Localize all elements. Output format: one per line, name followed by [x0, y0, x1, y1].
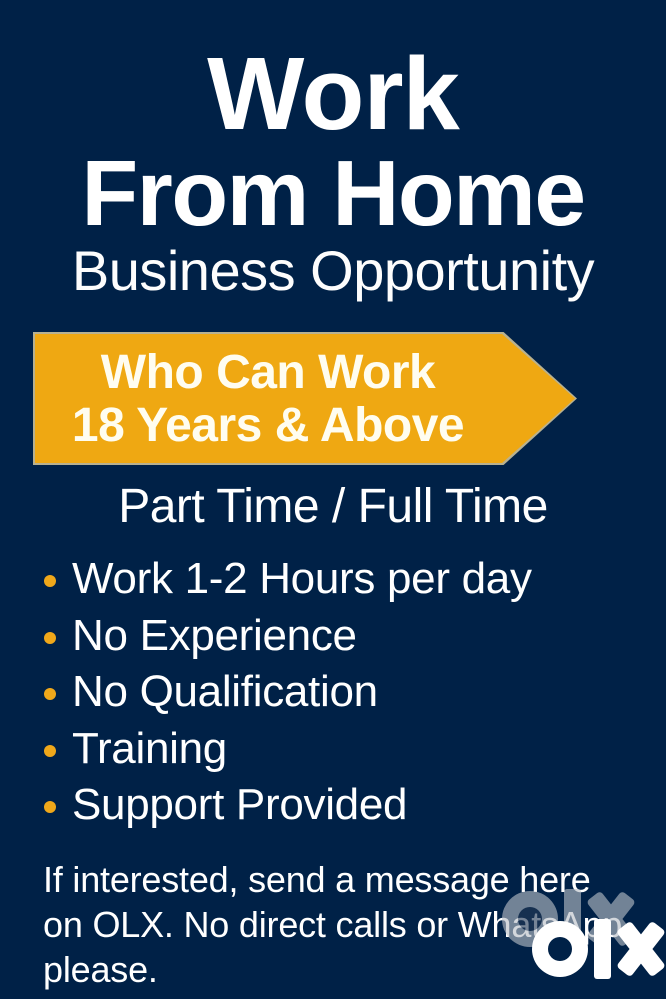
- bullet-dot-icon: [44, 801, 56, 813]
- list-item: No Experience: [44, 608, 644, 664]
- list-item: Training: [44, 721, 644, 777]
- poster-canvas: Work From Home Business Opportunity Who …: [0, 0, 666, 999]
- availability-label: Part Time / Full Time: [0, 483, 666, 531]
- banner-text-block: Who Can Work 18 Years & Above: [35, 346, 501, 452]
- olx-letter-x-icon: [616, 923, 666, 975]
- olx-watermark-front-icon: [532, 921, 665, 981]
- bullet-dot-icon: [44, 745, 56, 757]
- page-subtitle: Business Opportunity: [0, 243, 666, 299]
- list-item: No Qualification: [44, 664, 644, 720]
- banner-line-2: 18 Years & Above: [35, 399, 501, 452]
- list-item-label: Training: [72, 725, 227, 773]
- olx-letter-o-icon: [532, 921, 588, 977]
- bullet-dot-icon: [44, 688, 56, 700]
- list-item-label: No Experience: [72, 612, 357, 660]
- olx-letter-o-hole: [548, 937, 572, 961]
- eligibility-banner: Who Can Work 18 Years & Above: [35, 334, 575, 463]
- olx-letter-l-icon: [594, 919, 611, 979]
- list-item: Work 1-2 Hours per day: [44, 551, 644, 607]
- list-item-label: No Qualification: [72, 668, 378, 716]
- page-title-line-2: From Home: [0, 147, 666, 240]
- bullet-dot-icon: [44, 632, 56, 644]
- banner-line-1: Who Can Work: [35, 346, 501, 399]
- benefits-list: Work 1-2 Hours per day No Experience No …: [44, 551, 644, 834]
- page-title-line-1: Work: [0, 42, 666, 145]
- bullet-dot-icon: [44, 575, 56, 587]
- list-item: Support Provided: [44, 777, 644, 833]
- list-item-label: Support Provided: [72, 781, 407, 829]
- list-item-label: Work 1-2 Hours per day: [72, 555, 532, 603]
